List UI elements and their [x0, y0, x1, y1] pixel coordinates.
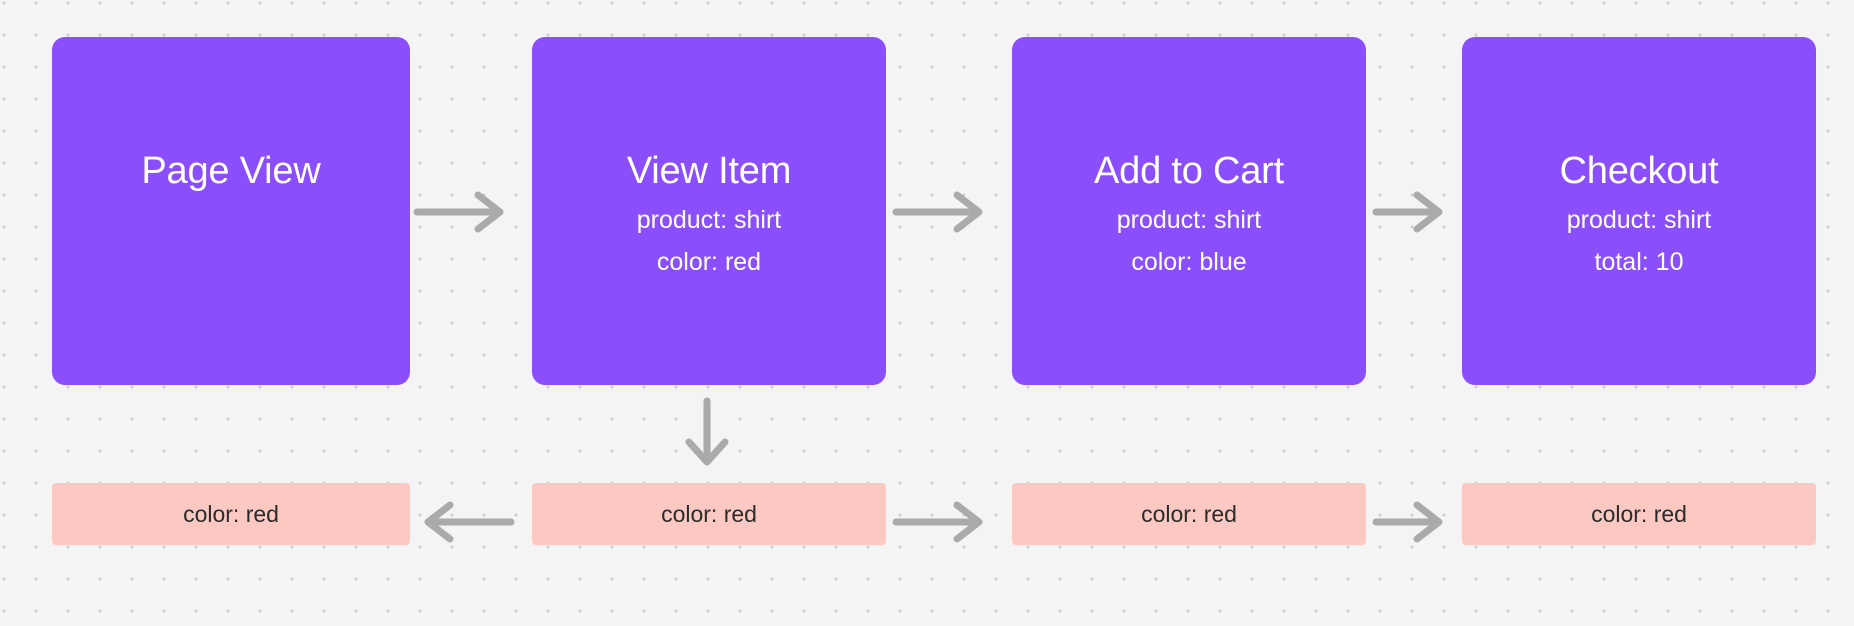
arrow-right-icon — [893, 500, 993, 544]
arrow-down-icon — [683, 398, 731, 474]
diagram-canvas[interactable]: Page View View Item product: shirt color… — [0, 0, 1854, 626]
event-node-property: total: 10 — [1595, 242, 1684, 283]
arrow-left-icon — [414, 500, 514, 544]
event-node-properties: product: shirt color: red — [637, 200, 782, 283]
arrow-right-icon — [1373, 190, 1453, 234]
property-box-label: color: red — [183, 501, 279, 528]
event-node-properties: product: shirt color: blue — [1117, 200, 1262, 283]
property-box[interactable]: color: red — [52, 483, 410, 545]
event-node-checkout[interactable]: Checkout product: shirt total: 10 — [1462, 37, 1816, 385]
event-node-title: Page View — [141, 149, 320, 194]
property-box[interactable]: color: red — [532, 483, 886, 545]
event-node-property: product: shirt — [1117, 200, 1262, 241]
event-node-property: product: shirt — [1567, 200, 1712, 241]
event-node-add-to-cart[interactable]: Add to Cart product: shirt color: blue — [1012, 37, 1366, 385]
property-box-label: color: red — [1141, 501, 1237, 528]
property-box-label: color: red — [661, 501, 757, 528]
event-node-properties: product: shirt total: 10 — [1567, 200, 1712, 283]
event-node-property: product: shirt — [637, 200, 782, 241]
arrow-right-icon — [893, 190, 993, 234]
property-box-label: color: red — [1591, 501, 1687, 528]
event-node-title: Checkout — [1560, 149, 1719, 194]
event-node-title: View Item — [627, 149, 791, 194]
arrow-right-icon — [414, 190, 514, 234]
event-node-title: Add to Cart — [1094, 149, 1284, 194]
event-node-view-item[interactable]: View Item product: shirt color: red — [532, 37, 886, 385]
property-box[interactable]: color: red — [1012, 483, 1366, 545]
event-node-page-view[interactable]: Page View — [52, 37, 410, 385]
event-node-property: color: red — [657, 242, 761, 283]
arrow-right-icon — [1373, 500, 1453, 544]
event-node-property: color: blue — [1131, 242, 1246, 283]
property-box[interactable]: color: red — [1462, 483, 1816, 545]
